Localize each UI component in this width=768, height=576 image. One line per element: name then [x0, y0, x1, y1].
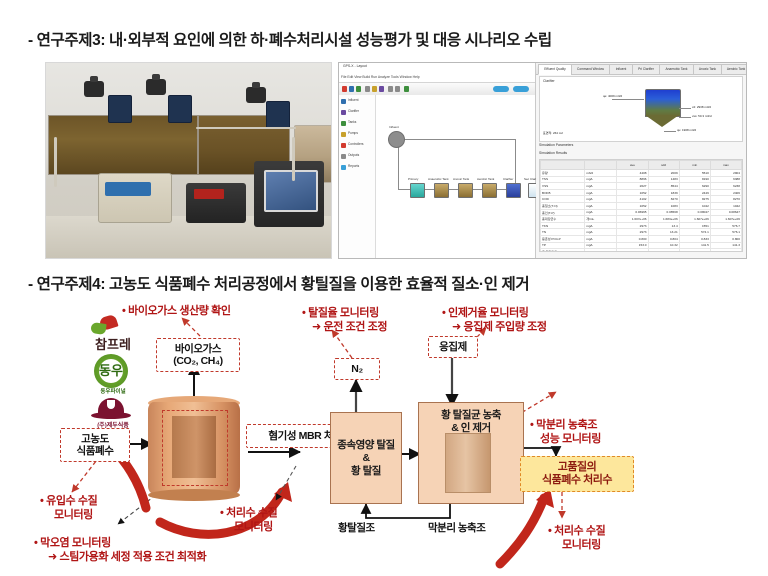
- row-value-2: 1551: [679, 222, 710, 229]
- box-sulfur-denitrification: 종속영양 탈질 & 황 탈질: [330, 412, 402, 504]
- tree-icon-tanks: [341, 121, 346, 126]
- row-value-2: 574.1: [679, 229, 710, 236]
- lab-photo: [45, 62, 332, 259]
- software-menubar[interactable]: File Edit View Build Run Analyze Tools W…: [341, 75, 533, 81]
- row-value-2: 1.607e+06: [679, 216, 710, 223]
- box-biogas-line2: (CO₂, CH₄): [173, 355, 222, 368]
- results-col-2: ave: [617, 161, 648, 170]
- row-value-0: 0.800: [617, 235, 648, 242]
- page-title-topic3: - 연구주제3: 내·외부적 요인에 의한 하·폐수처리시설 성능평가 및 대응…: [28, 28, 552, 50]
- toolbar-icon-8[interactable]: [395, 86, 400, 92]
- table-row[interactable]: 총인(T-P)mg/L0.069650.085680.080470.08647: [541, 209, 742, 216]
- results-table-grid: avesd2minmax 유량m3/d4408200955102904TSSmg…: [540, 160, 742, 252]
- row-value-0: 2973: [617, 229, 648, 236]
- row-value-3: 2406: [710, 189, 741, 196]
- row-param-name: COD: [541, 196, 585, 203]
- row-value-3: 8270: [710, 196, 741, 203]
- flowsheet-unit-primary[interactable]: [410, 183, 425, 198]
- row-value-2: 1042: [679, 202, 710, 209]
- row-value-3: 141.3: [710, 242, 741, 249]
- row-value-2: 141.5: [679, 242, 710, 249]
- software-results-pane[interactable]: Effluent Quality Command Window Influent…: [536, 63, 746, 258]
- note-denitrification-action: ➜ 운전 조건 조정: [312, 320, 387, 334]
- figure-label-right2: vss: 50.3 m3/d: [692, 114, 712, 118]
- row-value-0: 4102: [617, 196, 648, 203]
- toolbar-icon-2[interactable]: [349, 86, 354, 92]
- row-value-2: 8275: [679, 196, 710, 203]
- row-value-1: 0.08568: [648, 209, 679, 216]
- row-unit: mg/L: [585, 176, 617, 183]
- box-biogas-line1: 바이오가스: [175, 343, 221, 356]
- table-row[interactable]: 유량m3/d4408200955102904: [541, 170, 742, 177]
- row-value-1: 8270: [648, 196, 679, 203]
- tree-icon-clarifier: [341, 110, 346, 115]
- toolbar-icon-6[interactable]: [379, 86, 384, 92]
- results-table[interactable]: avesd2minmax 유량m3/d4408200955102904TSSmg…: [539, 159, 743, 252]
- tree-icon-reports: [341, 165, 346, 170]
- row-unit: mg/L: [585, 242, 617, 249]
- software-flowsheet-canvas[interactable]: Influent Primary Anaerobic Tank Anoxic T…: [376, 95, 535, 258]
- note-effluent-monitoring-mid: 모니터링: [234, 520, 273, 534]
- simulation-software-window[interactable]: GPS-X - Layout File Edit View Build Run …: [338, 62, 747, 259]
- photo-tubing-2: [54, 137, 57, 187]
- row-unit: m3/d: [585, 170, 617, 177]
- photo-peristaltic-pump-1: [98, 173, 172, 223]
- toolbar-icon-9[interactable]: [404, 86, 409, 92]
- sludge-prism: [445, 433, 491, 493]
- table-row[interactable]: CODmg/L4102827082758270: [541, 196, 742, 203]
- row-value-3: 6388: [710, 176, 741, 183]
- flow-connector-right: [515, 139, 516, 189]
- note-denitrification-rate: • 탈질율 모니터링: [302, 306, 379, 320]
- box-high-quality-effluent: 고품질의 식품폐수 처리수: [520, 456, 634, 492]
- flowsheet-unit-anoxic[interactable]: [458, 183, 473, 198]
- tab-anaerobic-tank[interactable]: Anaerobic Tank: [659, 64, 694, 75]
- photo-controller-3: [266, 101, 290, 129]
- photo-tubing-3: [292, 137, 295, 181]
- tab-command-window[interactable]: Command Window: [571, 64, 610, 75]
- table-row[interactable]: TKNmg/L297313.41551576.7: [541, 222, 742, 229]
- logo-champfresh: 참프레: [88, 314, 138, 354]
- flowsheet-label-4: Aerobic Tank: [477, 177, 494, 181]
- note-membrane-fouling: • 막오염 모니터링: [34, 536, 111, 550]
- results-col-0: [541, 161, 585, 170]
- row-unit: mg/L: [585, 202, 617, 209]
- flowsheet-label-0: Influent: [389, 125, 399, 129]
- slide-page: - 연구주제3: 내·외부적 요인에 의한 하·폐수처리시설 성능평가 및 대응…: [0, 0, 768, 576]
- tree-item-2[interactable]: Tanks: [348, 120, 356, 124]
- clarifier-figure: [645, 89, 679, 129]
- row-value-0: 153.0: [617, 242, 648, 249]
- row-value-1: 1483: [648, 176, 679, 183]
- toolbar-run-button[interactable]: [493, 86, 509, 92]
- table-row[interactable]: 총 알칼리도mgCaCO3/L143.8143.9143.9143.8: [541, 249, 742, 252]
- row-value-2: 0.08047: [679, 209, 710, 216]
- tab-effluent-quality[interactable]: Effluent Quality: [538, 64, 572, 75]
- toolbar-icon-3[interactable]: [356, 86, 361, 92]
- row-param-name: TP: [541, 242, 585, 249]
- photo-tubing-1: [196, 127, 296, 129]
- row-param-name: 용존성 PO4-P: [541, 235, 585, 242]
- row-param-name: 유량: [541, 170, 585, 177]
- toolbar-stop-button[interactable]: [513, 86, 529, 92]
- row-value-0: 1052: [617, 202, 648, 209]
- row-unit: mgCaCO3/L: [585, 249, 617, 252]
- software-toolbar[interactable]: [339, 82, 535, 96]
- tree-icon-outputs: [341, 154, 346, 159]
- box-biogas: 바이오가스 (CO₂, CH₄): [156, 338, 240, 372]
- row-value-1: 1839: [648, 189, 679, 196]
- row-value-0: 1.607e+06: [617, 216, 648, 223]
- tree-item-3[interactable]: Pumps: [348, 131, 358, 135]
- box-high-strength-feed: 고농도 식품폐수: [60, 428, 130, 462]
- table-row[interactable]: TNmg/L297313.21574.1576.1: [541, 229, 742, 236]
- logo-dongwoo-mark: 동우: [94, 358, 128, 384]
- box-membrane-concentrator: 황 탈질균 농축 & 인 제거: [418, 402, 524, 504]
- table-row[interactable]: 총대장균수개/mL1.607e+061.683e+061.607e+061.60…: [541, 216, 742, 223]
- tab-pri-clarifier[interactable]: Pri Clarifier: [632, 64, 660, 75]
- flowsheet-label-2: Anaerobic Tank: [428, 177, 449, 181]
- row-unit: mg/L: [585, 196, 617, 203]
- logo-dongwoo-sub: 동우파이널: [88, 387, 138, 395]
- table-row[interactable]: BOD5mg/L1052183924492406: [541, 189, 742, 196]
- row-value-3: 1.607e+06: [710, 216, 741, 223]
- row-value-1: 2009: [648, 170, 679, 177]
- figure-lead-top: [612, 99, 644, 100]
- tree-icon-controllers: [341, 143, 346, 148]
- table-row[interactable]: 용존성 PO4-Pmg/L0.8000.8040.8330.800: [541, 235, 742, 242]
- caption-membrane-tank: 막분리 농축조: [428, 520, 485, 535]
- flowsheet-unit-influent[interactable]: [388, 131, 405, 148]
- tree-icon-influent: [341, 99, 346, 104]
- row-param-name: VSS: [541, 183, 585, 190]
- tree-item-0[interactable]: Influent: [348, 98, 358, 102]
- row-value-3: 143.8: [710, 249, 741, 252]
- section-simulation-parameters[interactable]: Simulation Parameters: [539, 143, 743, 147]
- box-feed-line2: 식품폐수: [76, 445, 113, 458]
- note-membrane-performance: 성능 모니터링: [540, 432, 601, 446]
- tree-item-4[interactable]: Controllers: [348, 142, 363, 146]
- row-unit: mg/L: [585, 183, 617, 190]
- box-coagulant: 응집제: [428, 336, 478, 358]
- note-influent-monitoring: 모니터링: [54, 508, 93, 522]
- note-phosphorus-removal: • 인제거율 모니터링: [442, 306, 529, 320]
- row-value-3: 2904: [710, 170, 741, 177]
- results-col-4: min: [679, 161, 710, 170]
- row-value-2: 143.9: [679, 249, 710, 252]
- panel-header: Clarifier: [543, 79, 555, 83]
- row-unit: mg/L: [585, 229, 617, 236]
- logo-champfresh-name: 참프레: [88, 334, 138, 353]
- row-value-1: 13.4: [648, 222, 679, 229]
- results-col-5: max: [710, 161, 741, 170]
- photo-controller-1: [108, 95, 132, 123]
- software-window-title: GPS-X - Layout: [341, 64, 533, 75]
- section-simulation-results[interactable]: Simulation Results: [539, 151, 743, 155]
- media-row-topic3: GPS-X - Layout File Edit View Build Run …: [45, 62, 745, 258]
- row-value-3: 0.08647: [710, 209, 741, 216]
- process-diagram: 참프레 동우 동우파이널 (주)제두식품 • 바이오가스 생산량 확인 • 탈질…: [0, 296, 768, 576]
- row-param-name: BOD5: [541, 189, 585, 196]
- row-value-3: 0.800: [710, 235, 741, 242]
- results-table-body: 유량m3/d4408200955102904TSSmg/L88961483819…: [541, 170, 742, 253]
- row-value-0: 2627: [617, 183, 648, 190]
- reactor-membrane-highlight: [162, 410, 228, 486]
- note-phosphorus-action: ➜ 응집제 주입량 조정: [452, 320, 547, 334]
- figure-lead-bottom: [664, 131, 676, 132]
- photo-peristaltic-pump-2: [186, 183, 246, 223]
- figure-lead-right1: [679, 108, 691, 109]
- photo-stirrer-motor-3: [246, 87, 266, 103]
- results-col-1: [585, 161, 617, 170]
- toolbar-icon-7[interactable]: [388, 86, 393, 92]
- note-effluent-quality-right: • 처리수 수질: [548, 524, 605, 538]
- page-title-topic4: - 연구주제4: 고농도 식품폐수 처리공정에서 황틸질을 이용한 효율적 질소…: [28, 272, 529, 294]
- panel-area-value: 표면적: 264 m2: [543, 131, 563, 135]
- photo-stirrer-motor-2: [146, 79, 166, 95]
- sulfur-line3: 황 탈질: [351, 465, 381, 478]
- row-value-2: 6290: [679, 183, 710, 190]
- flowsheet-label-1: Primary: [408, 177, 418, 181]
- row-param-name: 총질소(T-N): [541, 202, 585, 209]
- row-value-1: 10.32: [648, 242, 679, 249]
- table-row[interactable]: VSSmg/L2627854462906238: [541, 183, 742, 190]
- note-fouling-optimization: ➜ 스팀가용화 세정 적용 조건 최적화: [48, 550, 206, 564]
- row-value-3: 6238: [710, 183, 741, 190]
- row-unit: mg/L: [585, 235, 617, 242]
- row-value-3: 576.1: [710, 229, 741, 236]
- logo-dongwoo: 동우 동우파이널: [88, 354, 138, 398]
- note-influent-quality: • 유입수 수질: [40, 494, 97, 508]
- figure-label-right1: x2: 2938 m3/d: [692, 105, 711, 109]
- row-value-1: 1083: [648, 202, 679, 209]
- toolbar-icon-5[interactable]: [372, 86, 377, 92]
- row-value-0: 143.8: [617, 249, 648, 252]
- row-value-2: 8190: [679, 176, 710, 183]
- row-param-name: 총대장균수: [541, 216, 585, 223]
- note-effluent-monitoring-right: 모니터링: [562, 538, 601, 552]
- row-param-name: 총 알칼리도: [541, 249, 585, 252]
- figure-lead-right2: [679, 117, 691, 118]
- table-row[interactable]: 총질소(T-N)mg/L1052108310421042: [541, 202, 742, 209]
- photo-stirrer-motor-1: [84, 81, 104, 97]
- software-layout-pane[interactable]: GPS-X - Layout File Edit View Build Run …: [339, 63, 536, 258]
- product-line1: 고품질의: [558, 461, 596, 475]
- row-value-0: 2973: [617, 222, 648, 229]
- row-unit: mg/L: [585, 222, 617, 229]
- row-value-1: 13.21: [648, 229, 679, 236]
- row-value-2: 0.833: [679, 235, 710, 242]
- tree-item-5[interactable]: Outputs: [348, 153, 359, 157]
- sulfur-line2: &: [362, 452, 369, 465]
- flowsheet-label-5: Clarifier: [503, 177, 513, 181]
- product-line2: 식품폐수 처리수: [542, 474, 612, 488]
- tree-item-1[interactable]: Clarifier: [348, 109, 359, 113]
- row-param-name: 총인(T-P): [541, 209, 585, 216]
- tree-icon-pumps: [341, 132, 346, 137]
- table-row[interactable]: TPmg/L153.010.32141.5141.3: [541, 242, 742, 249]
- photo-controller-2: [168, 95, 192, 123]
- figure-label-bottom: qu: 1908 m3/d: [677, 128, 696, 132]
- row-value-1: 143.9: [648, 249, 679, 252]
- concentrate-line1: 황 탈질균 농축: [441, 409, 501, 422]
- box-feed-line1: 고농도: [81, 433, 109, 446]
- toolbar-icon-1[interactable]: [342, 86, 347, 92]
- row-unit: 개/mL: [585, 216, 617, 223]
- row-param-name: TN: [541, 229, 585, 236]
- tab-aerobic-tank[interactable]: Aerobic Tank: [721, 64, 747, 75]
- flowsheet-unit-anaerobic[interactable]: [434, 183, 449, 198]
- box-nitrogen-gas: N₂: [334, 358, 380, 380]
- sulfur-line1: 종속영양 탈질: [337, 439, 394, 452]
- software-clarifier-panel: Clarifier qe: 4009 m3/d x2: 2938 m3/d vs…: [539, 76, 743, 142]
- tab-anoxic-tank[interactable]: Anoxic Tank: [693, 64, 722, 75]
- row-value-3: 576.7: [710, 222, 741, 229]
- row-value-1: 8544: [648, 183, 679, 190]
- flowsheet-unit-aerobic[interactable]: [482, 183, 497, 198]
- photo-reactor-tank-1: [48, 115, 198, 175]
- row-value-3: 1042: [710, 202, 741, 209]
- flowsheet-unit-clarifier[interactable]: [506, 183, 521, 198]
- row-value-1: 1.683e+06: [648, 216, 679, 223]
- software-object-tree[interactable]: Influent Clarifier Tanks Pumps Controlle…: [339, 95, 376, 258]
- figure-label-top: qe: 4009 m3/d: [603, 94, 622, 98]
- note-membrane-tank: • 막분리 농축조: [530, 418, 597, 432]
- row-value-0: 1052: [617, 189, 648, 196]
- flowsheet-label-3: Anoxic Tank: [453, 177, 469, 181]
- flow-connector-top: [398, 139, 516, 140]
- row-unit: mg/L: [585, 209, 617, 216]
- note-biogas-yield: • 바이오가스 생산량 확인: [122, 304, 231, 318]
- row-value-2: 2449: [679, 189, 710, 196]
- row-value-0: 0.06965: [617, 209, 648, 216]
- caption-sulfur-tank: 황탈질조: [338, 520, 375, 535]
- row-value-2: 5510: [679, 170, 710, 177]
- tree-item-6[interactable]: Reports: [348, 164, 359, 168]
- row-value-0: 4408: [617, 170, 648, 177]
- results-table-header: avesd2minmax: [541, 161, 742, 170]
- software-tabstrip[interactable]: Effluent Quality Command Window Influent…: [536, 63, 746, 75]
- row-param-name: TSS: [541, 176, 585, 183]
- photo-control-unit: [254, 161, 324, 227]
- toolbar-icon-4[interactable]: [365, 86, 370, 92]
- anaerobic-mbr-reactor: [148, 396, 240, 500]
- row-value-0: 8896: [617, 176, 648, 183]
- row-unit: mg/L: [585, 189, 617, 196]
- row-value-1: 0.804: [648, 235, 679, 242]
- table-row[interactable]: TSSmg/L8896148381906388: [541, 176, 742, 183]
- tab-influent[interactable]: Influent: [609, 64, 633, 75]
- note-effluent-quality-mid: • 처리수 수질: [220, 506, 277, 520]
- row-param-name: TKN: [541, 222, 585, 229]
- results-col-3: sd2: [648, 161, 679, 170]
